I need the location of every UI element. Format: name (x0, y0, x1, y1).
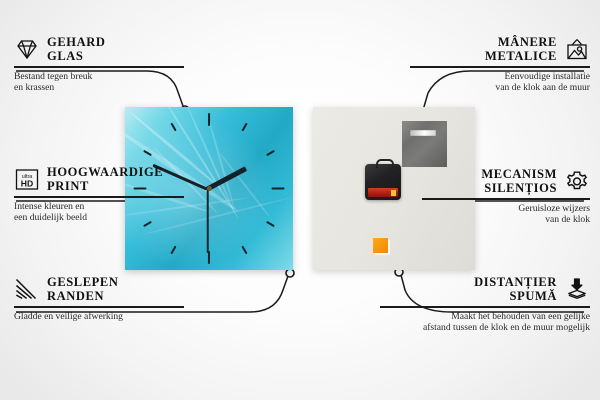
feature-tempered-glass: GEHARD GLAS Bestand tegen breuk en krass… (14, 36, 184, 94)
feature-body: Eenvoudige installatie (410, 71, 590, 83)
feature-high-quality-print: ultra HD HOOGWAARDIGE PRINT Intense kleu… (14, 166, 184, 224)
battery (368, 188, 398, 197)
svg-text:HD: HD (21, 179, 33, 189)
feature-body: Intense kleuren en (14, 201, 184, 213)
bevelled-edges-icon (14, 277, 40, 302)
clock-center-pin (207, 186, 212, 191)
feature-title: GEHARD (47, 36, 105, 50)
diamond-icon (14, 37, 40, 62)
divider (410, 66, 590, 68)
feature-title-2: PRINT (47, 180, 163, 194)
divider (380, 306, 590, 308)
feature-body-2: een duidelijk beeld (14, 212, 184, 224)
divider (14, 196, 184, 198)
feature-title-2: SILENȚIOS (481, 182, 557, 196)
spacer-press-icon (564, 277, 590, 302)
feature-body: Bestand tegen breuk (14, 71, 184, 83)
feature-body: Gladde en veilige afwerking (14, 311, 184, 323)
feature-body-2: en krassen (14, 82, 184, 94)
endpoint-dot-ground-edges (286, 269, 294, 277)
feature-silent-mechanism: MECANISM SILENȚIOS Geruisloze wijzers va… (422, 168, 590, 226)
gear-icon (564, 169, 590, 194)
feature-title-2: SPUMĂ (474, 290, 557, 304)
feature-title-2: RANDEN (47, 290, 119, 304)
feature-title: MÂNERE (485, 36, 557, 50)
feature-body: Maakt het behouden van een gelijke (380, 311, 590, 323)
feature-title: HOOGWAARDIGE (47, 166, 163, 180)
feature-metal-handles: MÂNERE METALICE Eenvoudige installatie v… (410, 36, 590, 94)
ultra-hd-icon: ultra HD (14, 167, 40, 192)
foam-spacer-pad (373, 238, 388, 253)
feature-title-2: METALICE (485, 50, 557, 64)
feature-title: MECANISM (481, 168, 557, 182)
divider (14, 66, 184, 68)
divider (422, 198, 590, 200)
feature-title: GESLEPEN (47, 276, 119, 290)
feature-body-2: van de klok (422, 214, 590, 226)
feature-foam-spacer: DISTANȚIER SPUMĂ Maakt het behouden van … (380, 276, 590, 334)
clock-movement-box (365, 164, 401, 200)
divider (14, 306, 184, 308)
feature-title: DISTANȚIER (474, 276, 557, 290)
feature-body-2: van de klok aan de muur (410, 82, 590, 94)
infographic-canvas: GEHARD GLAS Bestand tegen breuk en krass… (0, 0, 600, 400)
metal-hanger-plate (402, 121, 447, 167)
picture-hanger-icon (564, 37, 590, 62)
feature-ground-edges: GESLEPEN RANDEN Gladde en veilige afwerk… (14, 276, 184, 322)
feature-body-2: afstand tussen de klok en de muur mogeli… (380, 322, 590, 334)
feature-title-2: GLAS (47, 50, 105, 64)
feature-body: Geruisloze wijzers (422, 203, 590, 215)
